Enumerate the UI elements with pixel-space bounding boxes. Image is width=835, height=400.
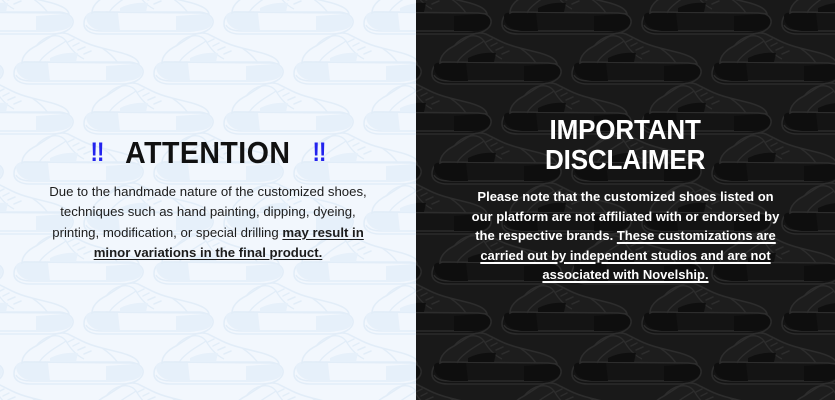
attention-heading-row: !! ATTENTION !!: [89, 137, 327, 168]
attention-panel: !! ATTENTION !! Due to the handmade natu…: [0, 0, 416, 400]
customization-disclaimer-banner: !! ATTENTION !! Due to the handmade natu…: [0, 0, 835, 400]
double-exclamation-right-icon: !!: [312, 139, 325, 166]
attention-body: Due to the handmade nature of the custom…: [48, 182, 368, 264]
disclaimer-heading-line-1: IMPORTANT: [545, 115, 705, 145]
disclaimer-panel: IMPORTANT DISCLAIMER Please note that th…: [416, 0, 835, 400]
disclaimer-content: IMPORTANT DISCLAIMER Please note that th…: [416, 0, 835, 400]
disclaimer-heading-line-2: DISCLAIMER: [545, 145, 705, 175]
attention-content: !! ATTENTION !! Due to the handmade natu…: [0, 0, 416, 400]
disclaimer-body: Please note that the customized shoes li…: [467, 187, 785, 285]
attention-heading: ATTENTION: [125, 137, 290, 168]
double-exclamation-left-icon: !!: [91, 139, 104, 166]
disclaimer-heading: IMPORTANT DISCLAIMER: [545, 115, 705, 174]
